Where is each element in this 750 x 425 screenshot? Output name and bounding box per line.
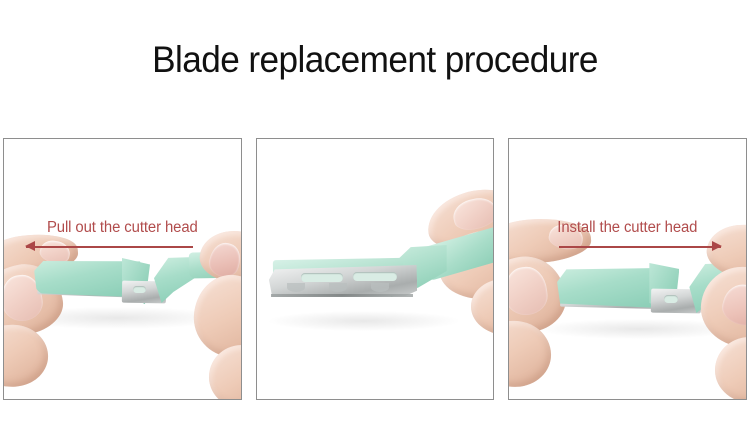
- lower-finger: [714, 336, 747, 400]
- product-shadow: [269, 311, 459, 331]
- install-arrow-right-icon: [559, 240, 721, 254]
- blade-notch-right: [371, 283, 389, 292]
- blade-slot-left: [301, 273, 343, 282]
- pull-out-arrow-left-icon: [26, 240, 193, 254]
- page-title: Blade replacement procedure: [19, 38, 732, 82]
- arrow-line: [559, 246, 721, 248]
- blade-slot-right: [353, 272, 397, 281]
- step-panel-2[interactable]: [256, 138, 495, 400]
- product-photo-step-2: [257, 139, 494, 399]
- arrow-head: [25, 241, 35, 251]
- step-3-caption: Install the cutter head: [514, 219, 741, 237]
- step-1-caption: Pull out the cutter head: [9, 219, 236, 237]
- arrow-line: [26, 246, 193, 248]
- blade-seat-slot: [133, 286, 146, 293]
- blade-seat-slot: [664, 295, 678, 303]
- step-panel-3[interactable]: Install the cutter head: [508, 138, 747, 400]
- arrow-head: [712, 241, 722, 251]
- step-panel-strip: Pull out the cutter head: [3, 138, 747, 400]
- lower-finger: [3, 322, 50, 389]
- blade-notch-mid: [329, 283, 347, 292]
- product-photo-step-1: [4, 139, 241, 399]
- step-panel-1[interactable]: Pull out the cutter head: [3, 138, 242, 400]
- product-photo-step-3: [509, 139, 746, 399]
- blade-notch-left: [287, 283, 305, 292]
- blade-cutting-edge: [271, 294, 413, 297]
- lower-finger: [208, 344, 242, 400]
